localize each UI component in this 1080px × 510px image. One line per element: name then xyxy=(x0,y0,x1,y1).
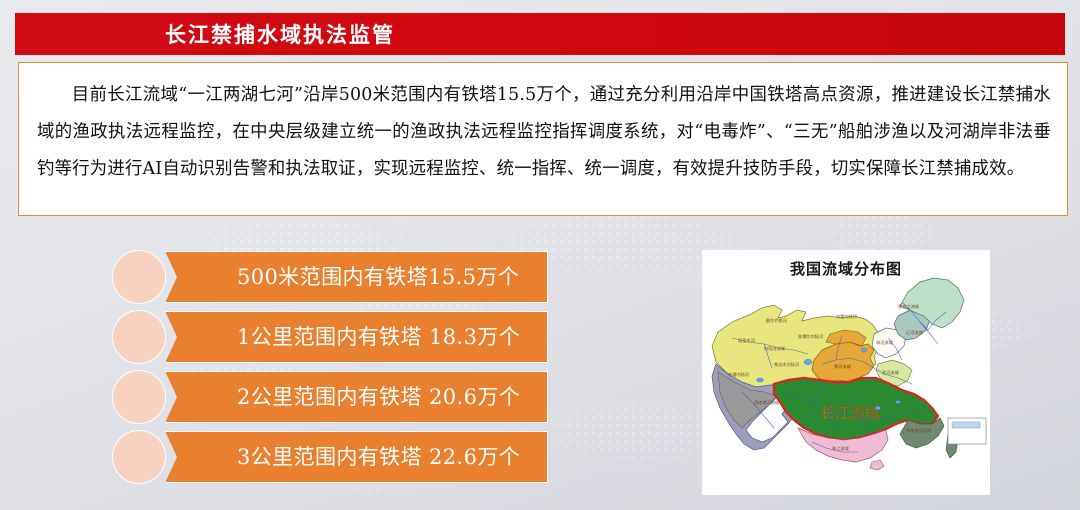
stat-bar-label: 3公里范围内有铁塔 22.6万个 xyxy=(237,431,520,483)
svg-text:黄河流域: 黄河流域 xyxy=(834,363,852,370)
page-title: 长江禁捕水域执法监管 xyxy=(165,19,395,49)
svg-text:黑龙江流域: 黑龙江流域 xyxy=(898,303,920,310)
svg-text:淮河流域: 淮河流域 xyxy=(882,369,900,376)
svg-text:西南诸河流域: 西南诸河流域 xyxy=(754,399,780,406)
svg-text:海河流域: 海河流域 xyxy=(876,339,894,346)
stat-bar-bullet-icon xyxy=(112,430,166,484)
stat-bar-row[interactable]: 3公里范围内有铁塔 22.6万个 xyxy=(112,431,548,483)
svg-text:辽河流域: 辽河流域 xyxy=(906,329,924,336)
map-graphic: 长江流域 xyxy=(702,272,990,492)
stat-bar-bullet-icon xyxy=(112,310,166,364)
svg-text:羌塘内陆河: 羌塘内陆河 xyxy=(728,371,750,378)
stat-bar-label: 2公里范围内有铁塔 20.6万个 xyxy=(237,371,520,423)
title-banner: 长江禁捕水域执法监管 xyxy=(15,13,1065,55)
stat-bar-bullet-icon xyxy=(112,370,166,424)
svg-text:塔里木河: 塔里木河 xyxy=(738,337,756,344)
svg-text:内陆河流域: 内陆河流域 xyxy=(764,345,786,352)
svg-text:准噶尔内陆河: 准噶尔内陆河 xyxy=(798,333,824,340)
stat-bar-row[interactable]: 1公里范围内有铁塔 18.3万个 xyxy=(112,311,548,363)
stat-bar-row[interactable]: 2公里范围内有铁塔 20.6万个 xyxy=(112,371,548,423)
stat-bar-bullet-icon xyxy=(112,250,166,304)
svg-text:额尔齐斯河: 额尔齐斯河 xyxy=(766,317,788,324)
china-basin-map: 我国流域分布图 长江流域 xyxy=(702,250,990,495)
map-inset-content xyxy=(952,422,980,428)
svg-text:柴达木内陆河: 柴达木内陆河 xyxy=(774,361,800,368)
stat-bar-row[interactable]: 500米范围内有铁塔15.5万个 xyxy=(112,251,548,303)
svg-text:珠江流域: 珠江流域 xyxy=(832,445,850,452)
description-paragraph: 目前长江流域“一江两湖七河”沿岸500米范围内有铁塔15.5万个，通过充分利用沿… xyxy=(19,63,1067,188)
map-region-hainan xyxy=(870,460,884,470)
svg-text:内蒙内陆河: 内蒙内陆河 xyxy=(836,313,858,320)
stat-bar-label: 500米范围内有铁塔15.5万个 xyxy=(237,251,519,303)
description-box: 目前长江流域“一江两湖七河”沿岸500米范围内有铁塔15.5万个，通过充分利用沿… xyxy=(18,62,1068,216)
svg-text:东南诸河流域: 东南诸河流域 xyxy=(906,427,932,434)
stat-bar-label: 1公里范围内有铁塔 18.3万个 xyxy=(237,311,520,363)
